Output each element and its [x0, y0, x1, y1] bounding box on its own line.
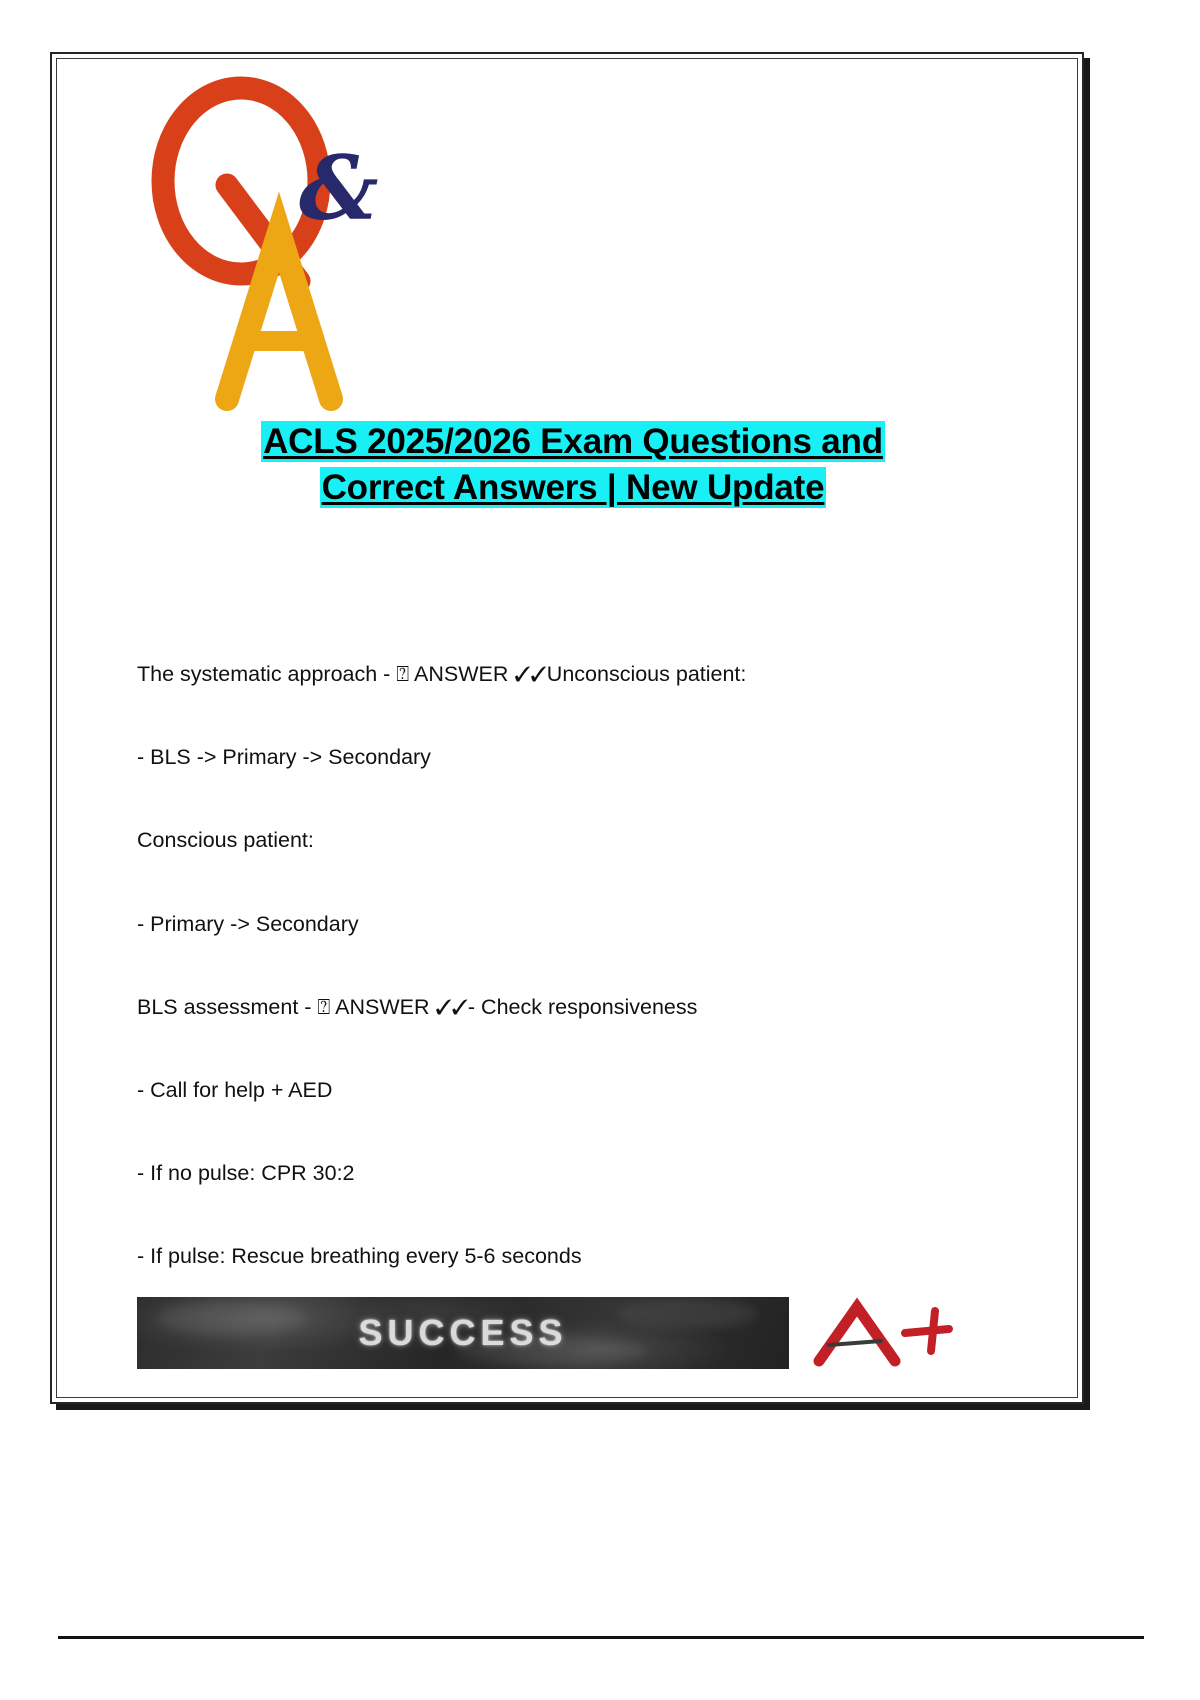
page-bottom-rule: [58, 1636, 1144, 1639]
chalkboard-word: SUCCESS: [137, 1312, 789, 1354]
body-paragraph: - If pulse: Rescue breathing every 5-6 s…: [137, 1241, 1017, 1272]
page-title-line-1: ACLS 2025/2026 Exam Questions and: [117, 419, 1029, 465]
a-plus-letter-a: [819, 1307, 895, 1361]
a-plus-grade-mark: [809, 1293, 1009, 1373]
body-paragraph: Conscious patient:: [137, 825, 1017, 856]
body-paragraph: - Call for help + AED: [137, 1075, 1017, 1106]
qa-logo: &: [149, 69, 399, 419]
a-plus-plus-vertical: [931, 1311, 935, 1351]
page-title: ACLS 2025/2026 Exam Questions and Correc…: [117, 419, 1029, 510]
body-paragraph: The systematic approach - ⍰ ANSWER ✓✓Unc…: [137, 659, 1017, 690]
body-paragraph: - Primary -> Secondary: [137, 909, 1017, 940]
page-content-area: & ACLS 2025/2026 Exam Questions and Corr…: [57, 59, 1077, 1397]
body-paragraph: - BLS -> Primary -> Secondary: [137, 742, 1017, 773]
body-paragraph: BLS assessment - ⍰ ANSWER ✓✓- Check resp…: [137, 992, 1017, 1023]
a-plus-plus-horizontal: [905, 1329, 949, 1333]
footer-graphics: SUCCESS: [137, 1297, 1027, 1375]
document-page-canvas: & ACLS 2025/2026 Exam Questions and Corr…: [0, 0, 1200, 1700]
page-sheet: & ACLS 2025/2026 Exam Questions and Corr…: [50, 52, 1084, 1404]
page-inner-border: & ACLS 2025/2026 Exam Questions and Corr…: [56, 58, 1078, 1398]
logo-ampersand: &: [299, 136, 378, 240]
document-body: The systematic approach - ⍰ ANSWER ✓✓Unc…: [137, 659, 1017, 1272]
page-title-line-2: Correct Answers | New Update: [117, 465, 1029, 511]
body-paragraph: - If no pulse: CPR 30:2: [137, 1158, 1017, 1189]
success-chalkboard-banner: SUCCESS: [137, 1297, 789, 1369]
logo-letter-a-strokes: [227, 232, 331, 399]
page-title-line-2-text: Correct Answers | New Update: [320, 467, 827, 508]
page-title-line-1-text: ACLS 2025/2026 Exam Questions and: [261, 421, 885, 462]
